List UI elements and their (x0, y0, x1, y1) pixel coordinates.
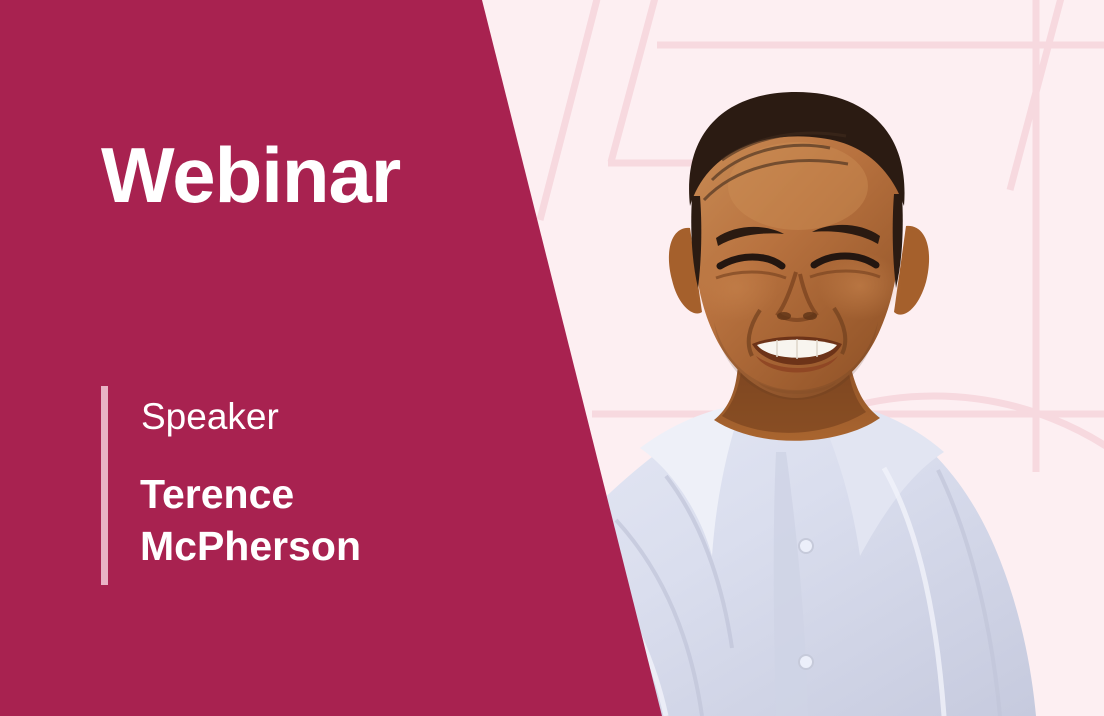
webinar-banner: Webinar Speaker Terence McPherson (0, 0, 1104, 716)
speaker-label: Speaker (141, 398, 279, 435)
portrait-nostril-right (803, 312, 817, 320)
accent-bar (101, 386, 108, 585)
page-title: Webinar (101, 136, 400, 214)
portrait-cheek-right (818, 252, 902, 320)
portrait-nostril-left (777, 312, 791, 320)
speaker-name: Terence McPherson (140, 468, 361, 573)
portrait-cheek-left (694, 254, 778, 322)
